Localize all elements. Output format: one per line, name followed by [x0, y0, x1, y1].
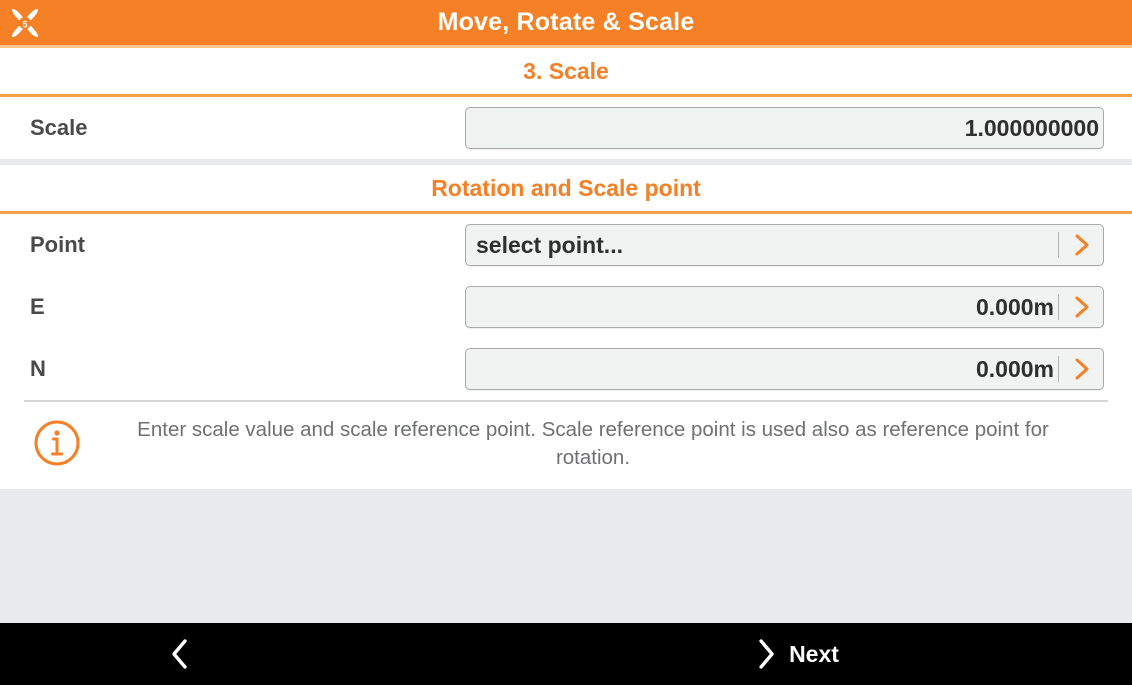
back-button[interactable]	[150, 624, 210, 684]
row-label-east: E	[30, 294, 465, 320]
section-card-rotation-scale-point: Rotation and Scale point Point select po…	[0, 165, 1132, 489]
field-divider	[1058, 232, 1059, 258]
next-button[interactable]: Next	[753, 637, 839, 671]
app-window: 5 Move, Rotate & Scale 3. Scale Scale 1.…	[0, 0, 1132, 685]
east-value-input[interactable]: 0.000m	[465, 286, 1104, 328]
content-area: 3. Scale Scale 1.000000000 Rotation and …	[0, 48, 1132, 623]
chevron-left-icon	[167, 637, 193, 671]
east-value-text: 0.000m	[476, 294, 1054, 321]
window-title: Move, Rotate & Scale	[0, 8, 1132, 37]
next-button-label: Next	[789, 641, 839, 668]
north-chevron-right-icon[interactable]	[1065, 352, 1099, 386]
row-scale: Scale 1.000000000	[0, 97, 1132, 159]
info-block: Enter scale value and scale reference po…	[24, 400, 1108, 489]
scale-value-input[interactable]: 1.000000000	[465, 107, 1104, 149]
section-header-scale: 3. Scale	[0, 48, 1132, 97]
row-label-north: N	[30, 356, 465, 382]
point-chevron-right-icon[interactable]	[1065, 228, 1099, 262]
info-text: Enter scale value and scale reference po…	[100, 416, 1108, 471]
chevron-right-icon	[753, 637, 779, 671]
row-north: N 0.000m	[0, 338, 1132, 400]
north-value-text: 0.000m	[476, 356, 1054, 383]
title-bar: 5 Move, Rotate & Scale	[0, 0, 1132, 48]
point-value-text: select point...	[476, 232, 1054, 259]
point-select-input[interactable]: select point...	[465, 224, 1104, 266]
bottom-navigation-bar: Next	[0, 623, 1132, 685]
row-point: Point select point...	[0, 214, 1132, 276]
section-header-rotation-scale-point: Rotation and Scale point	[0, 165, 1132, 214]
north-value-input[interactable]: 0.000m	[465, 348, 1104, 390]
info-circle-icon	[32, 418, 82, 468]
east-chevron-right-icon[interactable]	[1065, 290, 1099, 324]
content-spacer	[0, 495, 1132, 623]
row-east: E 0.000m	[0, 276, 1132, 338]
row-label-point: Point	[30, 232, 465, 258]
scale-value-text: 1.000000000	[476, 115, 1099, 142]
field-divider	[1058, 356, 1059, 382]
section-card-scale: 3. Scale Scale 1.000000000	[0, 48, 1132, 159]
field-divider	[1058, 294, 1059, 320]
row-label-scale: Scale	[30, 115, 465, 141]
